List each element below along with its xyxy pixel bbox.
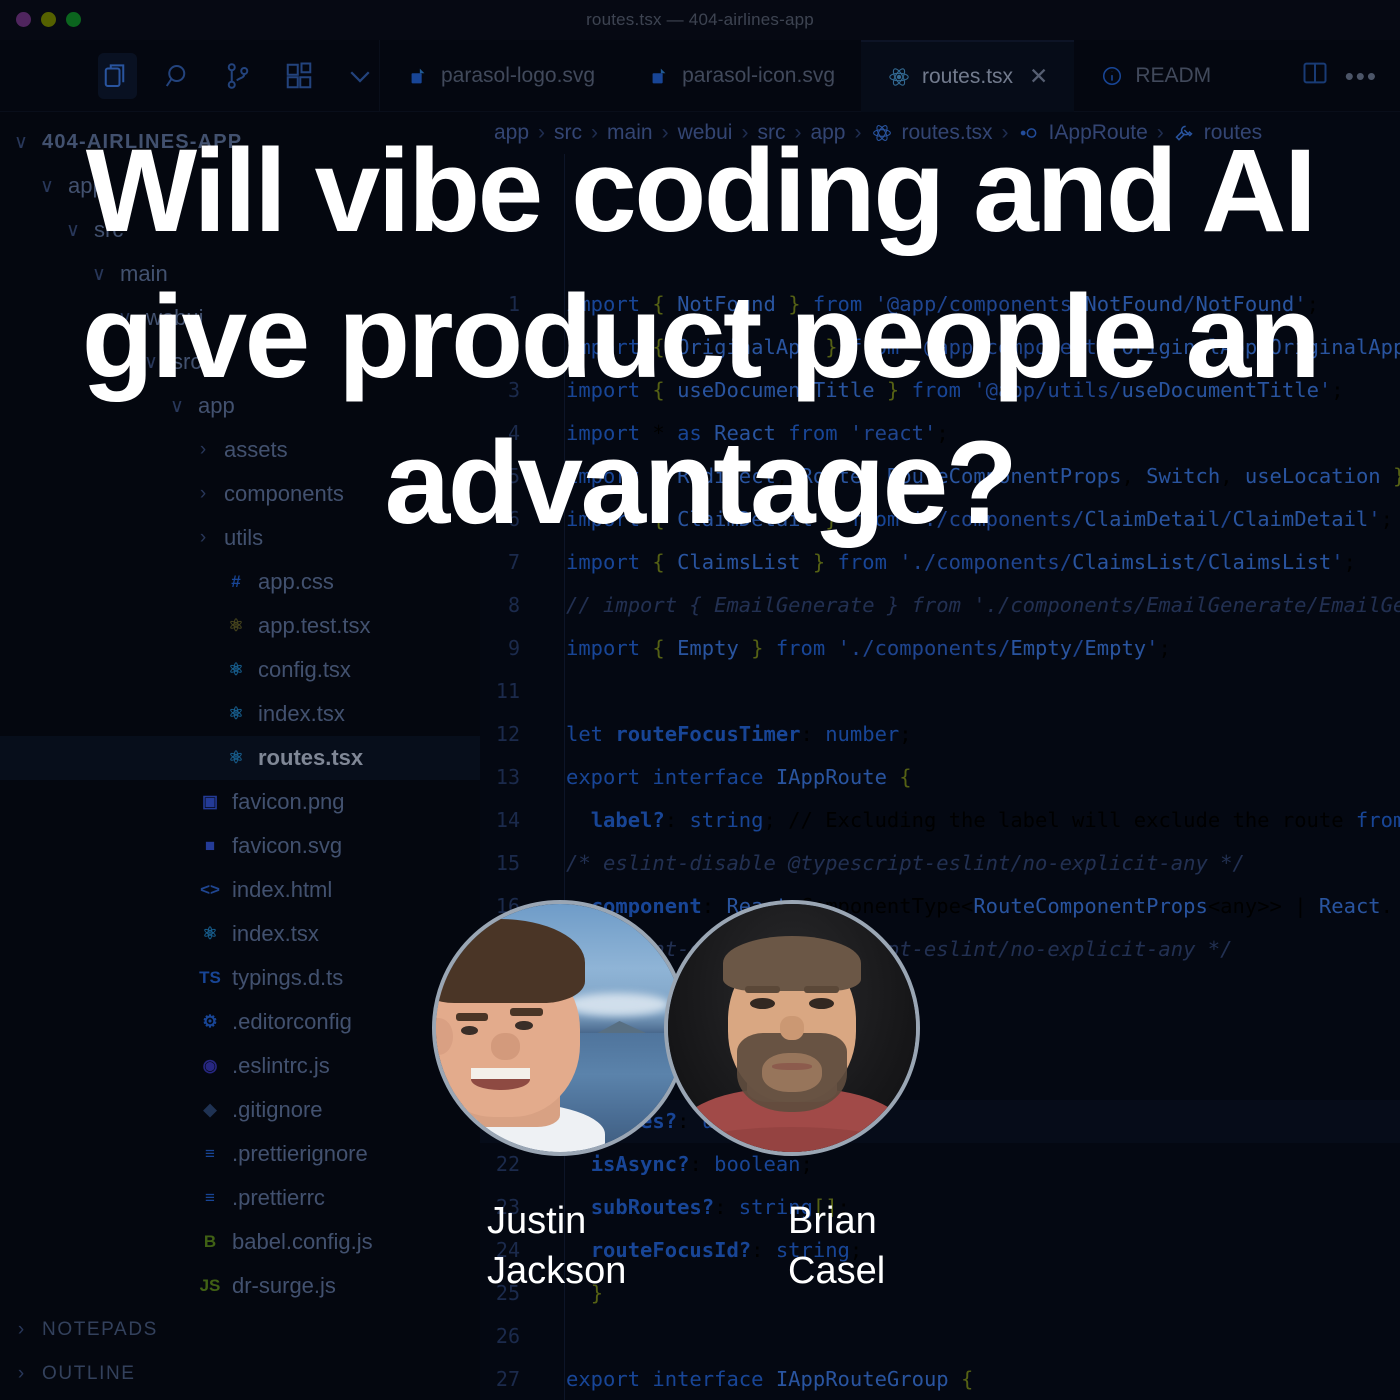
episode-headline: Will vibe coding and AI give product peo…	[0, 118, 1400, 556]
guest-name-brian: Brian Casel	[788, 1196, 885, 1296]
guest-name-justin: Justin Jackson	[487, 1196, 626, 1296]
podcast-cover-screenshot: routes.tsx — 404-airlines-app	[0, 0, 1400, 1400]
justin-avatar	[432, 900, 688, 1156]
brian-avatar	[664, 900, 920, 1156]
cover-overlay: Will vibe coding and AI give product peo…	[0, 0, 1400, 1400]
guest-avatars	[432, 900, 920, 1156]
